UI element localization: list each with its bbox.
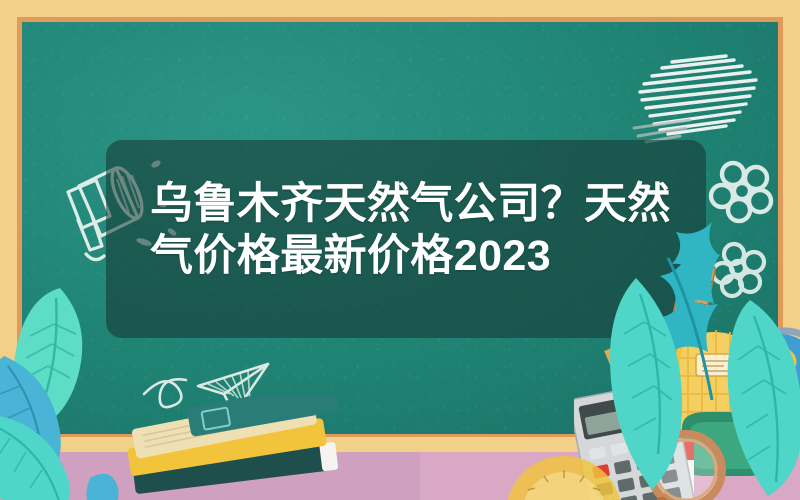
chalk-scribble-cloud-doodle bbox=[630, 42, 770, 150]
page-title-line-2: 气价格最新价格2023 bbox=[150, 230, 670, 282]
leaf-cluster-left bbox=[0, 282, 264, 500]
cover-image-canvas: 乌鲁木齐天然气公司？天然 气价格最新价格2023 bbox=[0, 0, 800, 500]
leaf-cluster-right bbox=[600, 218, 800, 498]
page-title-line-1: 乌鲁木齐天然气公司？天然 bbox=[150, 178, 670, 230]
page-title: 乌鲁木齐天然气公司？天然 气价格最新价格2023 bbox=[150, 178, 670, 282]
